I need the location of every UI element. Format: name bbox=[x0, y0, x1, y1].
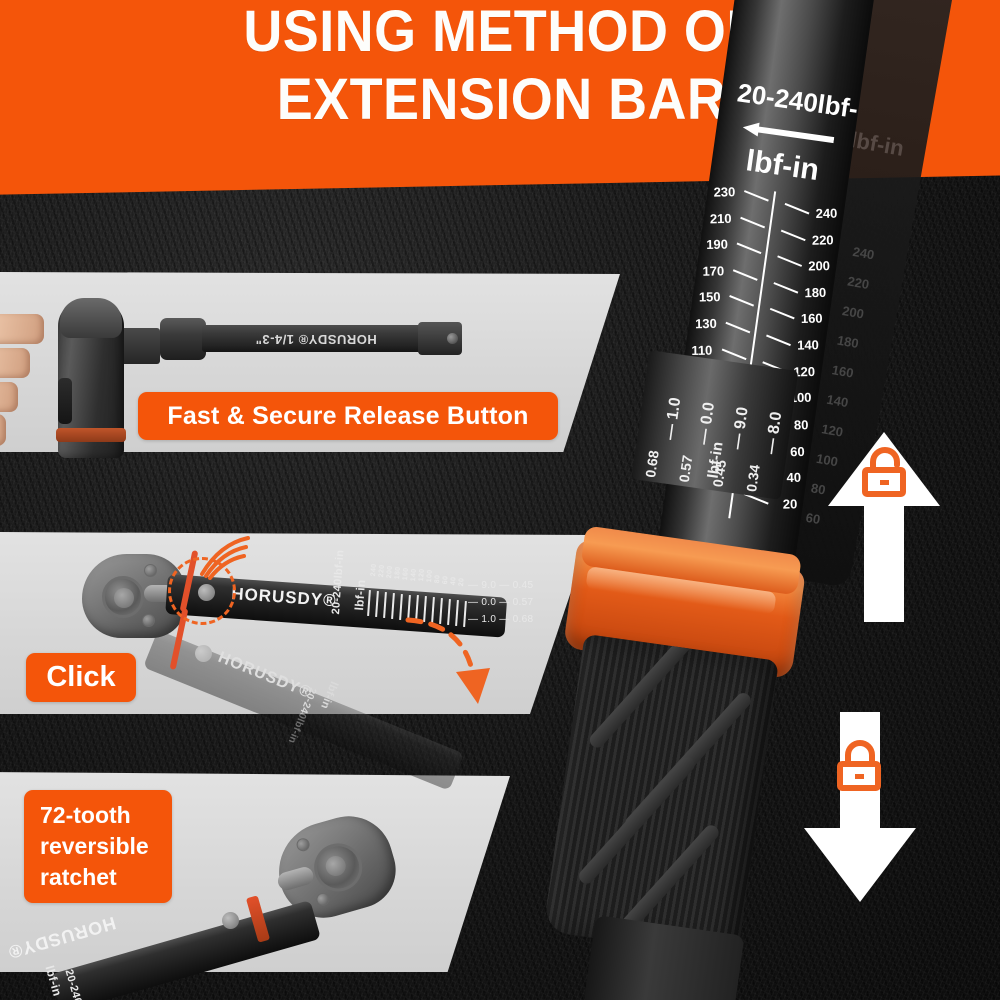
click-sound-waves-icon bbox=[196, 534, 258, 585]
micrometer-major-value: — 9.0 bbox=[729, 406, 753, 451]
scale-value-left: 210 bbox=[710, 211, 732, 226]
scale-value-right: 60 bbox=[790, 443, 805, 458]
lock-icon bbox=[833, 738, 887, 801]
scale-value-left: 230 bbox=[713, 184, 735, 199]
wrench-unit-label: lbf-in bbox=[744, 144, 821, 188]
scale-mark-right bbox=[766, 335, 791, 347]
scale-value-right: 40 bbox=[786, 470, 801, 485]
badge-ratchet-line2: reversible bbox=[40, 831, 158, 862]
badge-ratchet-feature: 72-tooth reversible ratchet bbox=[24, 790, 172, 903]
panel2-collar-a: — 9.0 — 0.45 bbox=[468, 580, 533, 591]
scale-value-right: 220 bbox=[812, 232, 834, 247]
lock-direction-arrow bbox=[800, 712, 920, 902]
unlock-direction-arrow bbox=[824, 432, 944, 622]
extension-socket-end bbox=[160, 318, 206, 360]
scale-value-left: 190 bbox=[706, 237, 728, 252]
panel2-scale-value: 240 bbox=[370, 563, 378, 576]
scale-mark-right bbox=[770, 308, 795, 320]
orange-ring bbox=[56, 428, 126, 442]
rotation-arrow-icon bbox=[398, 616, 518, 721]
scale-value-right: 20 bbox=[782, 496, 797, 511]
badge-ratchet-line3: ratchet bbox=[40, 862, 158, 893]
scale-value-left: 110 bbox=[691, 342, 712, 357]
panel2-scale-value: 60 bbox=[442, 576, 450, 585]
scale-value-left: 170 bbox=[702, 263, 724, 278]
screw-icon-top bbox=[144, 564, 157, 577]
micrometer-major-value: — 0.0 bbox=[695, 401, 719, 446]
scale-value-right: 240 bbox=[816, 206, 838, 221]
micrometer-minor-value: 0.34 bbox=[743, 464, 763, 493]
panel2-scale-value: 140 bbox=[410, 568, 418, 581]
release-button[interactable] bbox=[58, 378, 72, 424]
scale-mark-right bbox=[773, 282, 798, 294]
micrometer-minor-value: 0.57 bbox=[676, 454, 696, 483]
panel2-scale-value: 100 bbox=[426, 570, 434, 583]
scale-value-right: 160 bbox=[801, 311, 823, 326]
panel2-scale-value: 200 bbox=[386, 565, 394, 578]
scale-mark-left bbox=[725, 322, 750, 334]
scale-mark-left bbox=[740, 216, 765, 228]
extension-bar-marking: HORUSDY® 1/4-3" bbox=[216, 329, 416, 349]
drive-hole bbox=[102, 576, 144, 618]
scale-mark-left bbox=[733, 269, 758, 281]
scale-value-right: 140 bbox=[797, 337, 819, 352]
panel2-scale-value: 40 bbox=[450, 577, 458, 586]
panel2-scale-value: 160 bbox=[402, 567, 410, 580]
screw-icon-b bbox=[315, 891, 331, 907]
scale-mark-right bbox=[785, 203, 810, 215]
reversible-lever[interactable] bbox=[276, 865, 316, 892]
detent-ball-icon bbox=[447, 333, 458, 344]
panel2-scale-value: 220 bbox=[378, 564, 386, 577]
badge-release-button: Fast & Secure Release Button bbox=[138, 392, 558, 440]
badge-click: Click bbox=[26, 653, 136, 702]
drive-hole-large bbox=[309, 838, 368, 897]
panel3-brand-label: HORUSDY® bbox=[5, 912, 118, 963]
scale-mark-left bbox=[722, 348, 747, 360]
micrometer-scale: — 1.0— 0.0— 9.0— 8.0 0.680.570.450.34 lb… bbox=[632, 350, 799, 500]
infographic-canvas: USING METHOD OF EXTENSION BAR HORUSDY 20… bbox=[0, 0, 1000, 1000]
scale-value-right: 200 bbox=[808, 258, 830, 273]
micrometer-minor-value: 0.68 bbox=[642, 449, 662, 478]
micrometer-major-value: — 8.0 bbox=[763, 411, 787, 456]
panel2-scale-value: 120 bbox=[418, 569, 426, 582]
scale-mark-right bbox=[781, 229, 806, 241]
wrench-range-label: 20-240lbf-in bbox=[735, 77, 868, 126]
scale-value-left: 130 bbox=[695, 316, 717, 331]
panel2-scale-value: 20 bbox=[458, 578, 466, 587]
screw-icon-bottom bbox=[142, 614, 155, 627]
scale-mark-left bbox=[729, 295, 754, 307]
extension-bar: HORUSDY® 1/4-3" bbox=[160, 318, 460, 360]
scale-value-right: 180 bbox=[805, 285, 827, 300]
panel2-collar-b: — 0.0 — 0.57 bbox=[468, 597, 533, 608]
direction-arrow-icon bbox=[742, 120, 835, 145]
release-dot bbox=[222, 912, 239, 929]
scale-mark-left bbox=[737, 243, 762, 255]
badge-ratchet-line1: 72-tooth bbox=[40, 800, 158, 831]
unlock-icon bbox=[858, 446, 912, 507]
micrometer-major-value: — 1.0 bbox=[662, 396, 686, 441]
scale-mark-right bbox=[777, 256, 802, 268]
panel2-scale-value: 180 bbox=[394, 566, 402, 579]
scale-value-right: 80 bbox=[793, 417, 808, 432]
square-drive bbox=[118, 328, 160, 364]
scale-mark-left bbox=[744, 190, 769, 202]
screw-icon-a bbox=[295, 837, 311, 853]
panel2-scale-value: 80 bbox=[434, 575, 442, 584]
scale-value-left: 150 bbox=[699, 290, 721, 305]
ratchet-handle-top bbox=[60, 298, 122, 338]
panel2-unit-label: lbf-in bbox=[352, 579, 368, 611]
